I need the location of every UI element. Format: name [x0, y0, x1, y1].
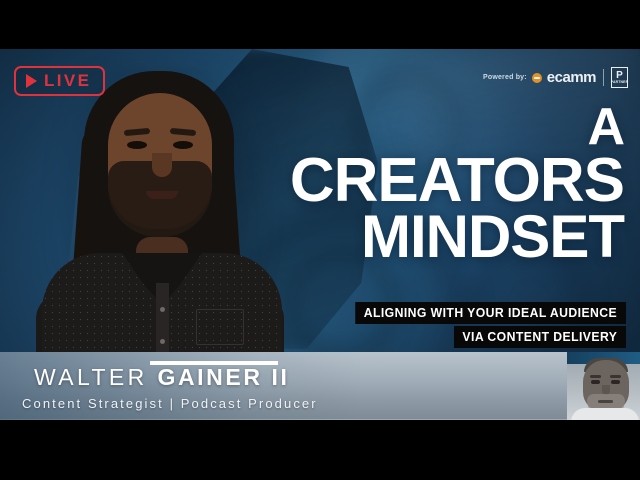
- title-line-3: MINDSET: [204, 209, 624, 264]
- powered-by-ecamm: Powered by: ecamm P PARTNER: [483, 67, 628, 88]
- play-triangle-icon: [26, 74, 37, 88]
- guest-shirt: [571, 408, 639, 420]
- video-frame: LIVE Powered by: ecamm P PARTNER A CREAT…: [0, 49, 640, 420]
- ecamm-brand-label: ecamm: [547, 70, 596, 85]
- guest-brow-left: [590, 375, 601, 378]
- host-eye-left: [127, 141, 147, 149]
- host-mouth: [146, 191, 178, 199]
- lower-third-banner: WALTER GAINER II Content Strategist | Po…: [0, 352, 640, 420]
- title-line-2: CREATORS: [204, 152, 624, 209]
- guest-mouth: [598, 400, 613, 403]
- letterbox-top: [0, 0, 640, 49]
- speaker-role: Content Strategist | Podcast Producer: [22, 396, 318, 411]
- speaker-name: WALTER GAINER II: [34, 364, 290, 390]
- host-nose: [152, 153, 172, 177]
- episode-subtitle: ALIGNING WITH YOUR IDEAL AUDIENCE VIA CO…: [338, 302, 626, 348]
- guest-eye-right: [611, 380, 620, 384]
- subtitle-line-2: VIA CONTENT DELIVERY: [454, 326, 626, 348]
- guest-brow-right: [610, 375, 621, 378]
- letterbox-bottom: [0, 420, 640, 480]
- title-line-1: A: [204, 104, 624, 152]
- guest-eye-left: [591, 380, 600, 384]
- ecamm-mark-icon: [532, 73, 542, 83]
- divider: [603, 69, 604, 86]
- live-badge-label: LIVE: [44, 72, 91, 89]
- host-shirt-pocket: [196, 309, 244, 345]
- partner-badge-letter: P: [616, 72, 623, 80]
- episode-title: A CREATORS MINDSET: [204, 104, 624, 264]
- speaker-last-name: GAINER II: [157, 364, 289, 390]
- host-eye-right: [173, 141, 193, 149]
- powered-by-label: Powered by:: [483, 74, 527, 81]
- live-badge: LIVE: [14, 66, 105, 96]
- speaker-first-name: WALTER: [34, 364, 148, 390]
- host-shirt-button: [160, 307, 165, 312]
- guest-speaker-pip[interactable]: [567, 352, 640, 420]
- partner-badge-icon: P PARTNER: [611, 67, 628, 88]
- subtitle-line-1: ALIGNING WITH YOUR IDEAL AUDIENCE: [356, 302, 626, 324]
- stream-screenshot: LIVE Powered by: ecamm P PARTNER A CREAT…: [0, 0, 640, 480]
- partner-badge-sub: PARTNER: [611, 80, 629, 84]
- host-shirt-button: [160, 339, 165, 344]
